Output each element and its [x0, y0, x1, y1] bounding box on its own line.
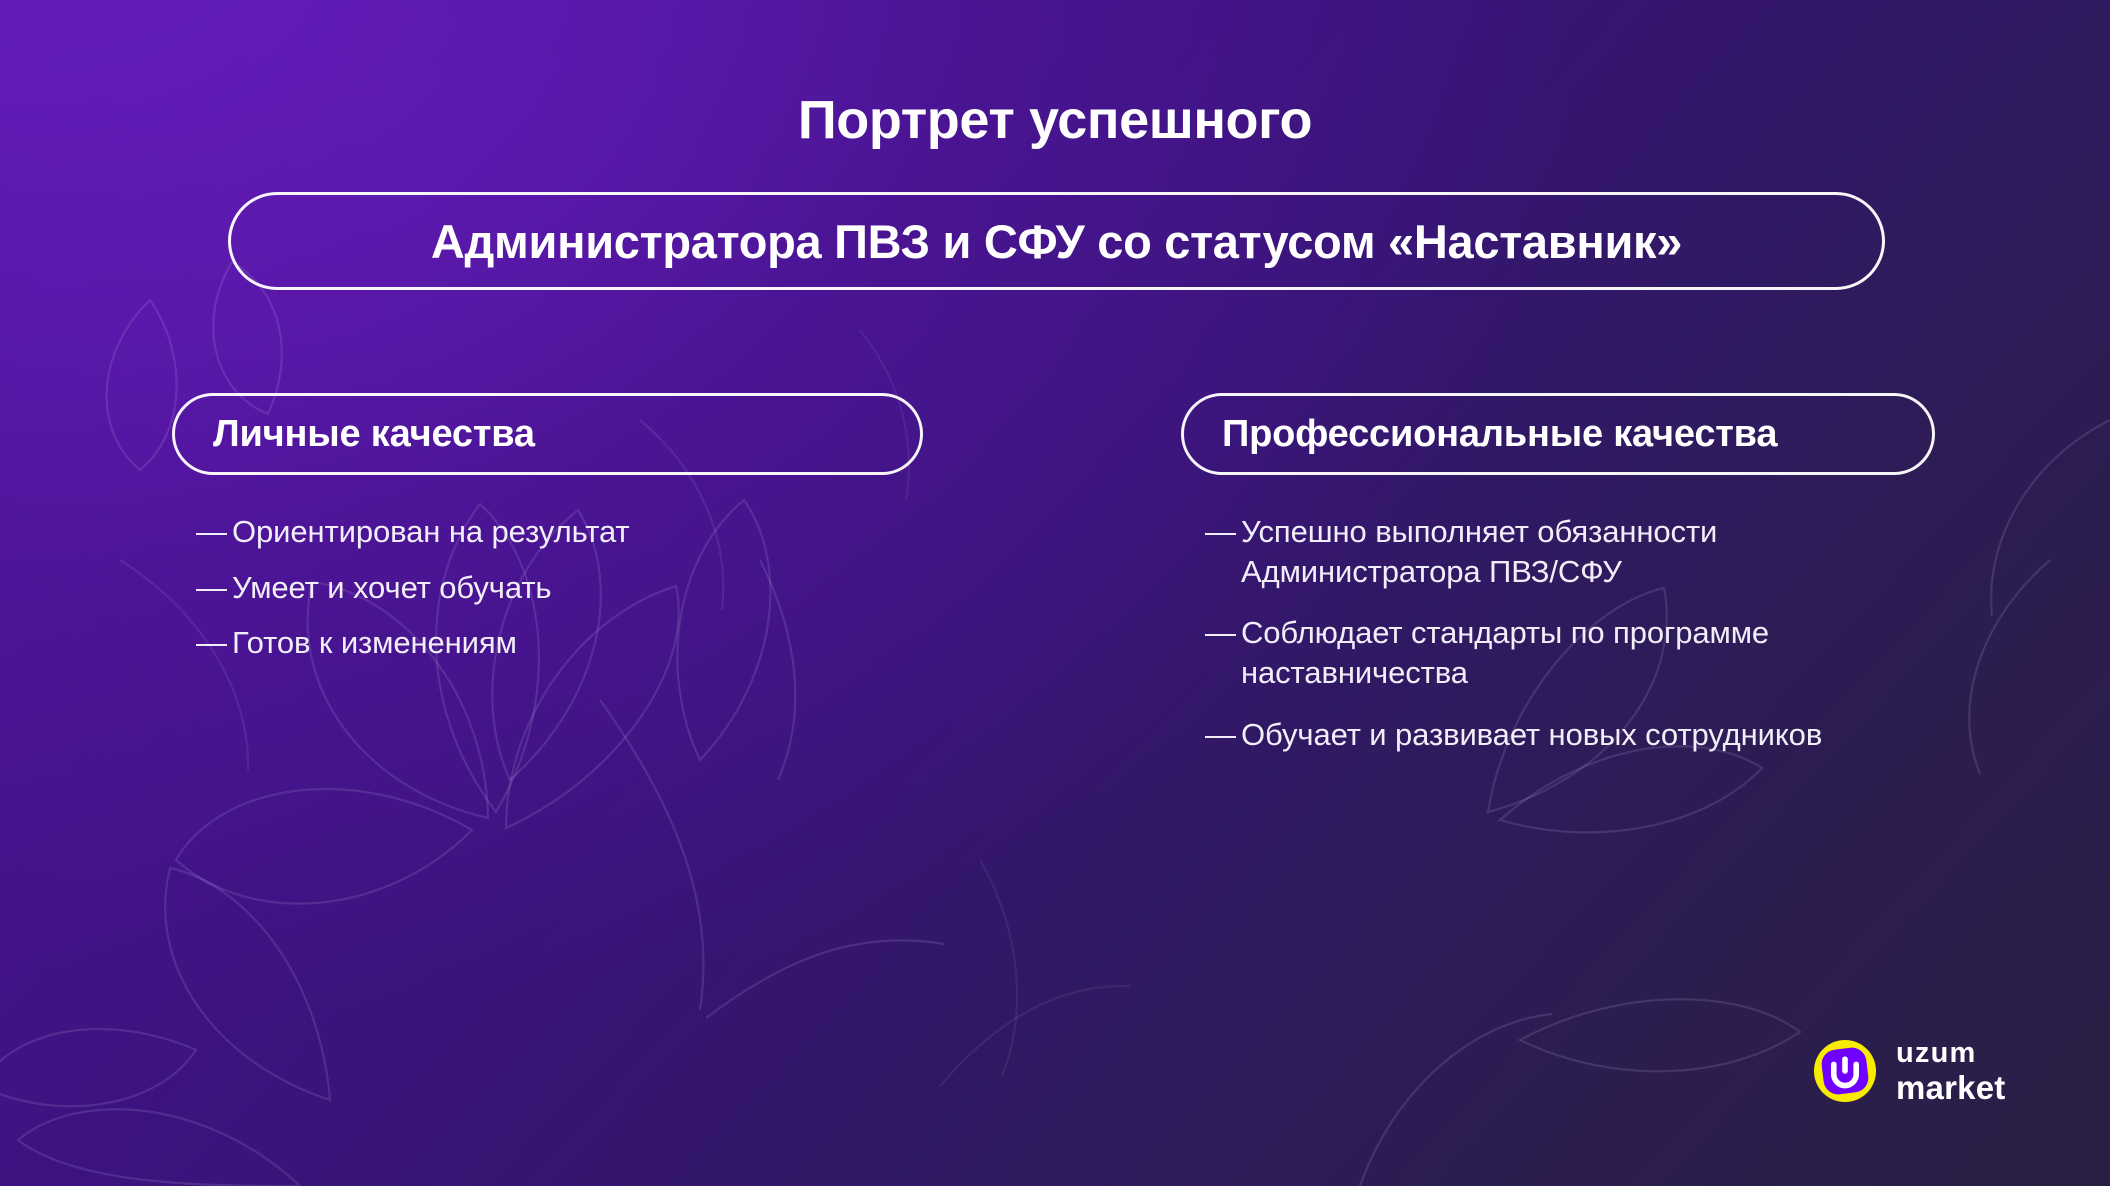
uzum-market-wordmark: uzum market [1896, 1039, 2005, 1104]
bullet-list-personal-qualities: — Ориентирован на результат — Умеет и хо… [196, 512, 896, 663]
bullet-dash-icon: — [196, 623, 232, 663]
list-item: — Соблюдает стандарты по программе наста… [1205, 613, 1945, 692]
subtitle-pill: Администратора ПВЗ и СФУ со статусом «На… [228, 192, 1885, 290]
bullet-dash-icon: — [1205, 715, 1241, 755]
uzum-market-logo: uzum market [1812, 1038, 2005, 1104]
list-item-text: Соблюдает стандарты по программе наставн… [1241, 613, 1945, 692]
column-heading-professional-qualities: Профессиональные качества [1181, 393, 1935, 475]
slide-root: Портрет успешного Администратора ПВЗ и С… [0, 0, 2110, 1186]
column-heading-personal-qualities: Личные качества [172, 393, 923, 475]
list-item-text: Готов к изменениям [232, 623, 896, 663]
bullet-dash-icon: — [196, 512, 232, 552]
bullet-dash-icon: — [1205, 613, 1241, 653]
list-item: — Готов к изменениям [196, 623, 896, 663]
list-item: — Умеет и хочет обучать [196, 568, 896, 608]
uzum-power-u-icon [1812, 1038, 1878, 1104]
subtitle-text: Администратора ПВЗ и СФУ со статусом «На… [431, 214, 1682, 269]
list-item-text: Умеет и хочет обучать [232, 568, 896, 608]
bullet-dash-icon: — [196, 568, 232, 608]
list-item-text: Ориентирован на результат [232, 512, 896, 552]
logo-word-market: market [1896, 1071, 2005, 1104]
list-item-text: Обучает и развивает новых сотрудников [1241, 715, 1945, 755]
list-item: — Успешно выполняет обязанности Админист… [1205, 512, 1945, 591]
slide-title: Портрет успешного [0, 92, 2110, 149]
logo-word-uzum: uzum [1896, 1039, 2005, 1068]
list-item: — Ориентирован на результат [196, 512, 896, 552]
bullet-dash-icon: — [1205, 512, 1241, 552]
list-item-text: Успешно выполняет обязанности Администра… [1241, 512, 1945, 591]
list-item: — Обучает и развивает новых сотрудников [1205, 715, 1945, 755]
column-heading-label: Профессиональные качества [1222, 413, 1777, 456]
bullet-list-professional-qualities: — Успешно выполняет обязанности Админист… [1205, 512, 1945, 754]
column-heading-label: Личные качества [213, 413, 535, 456]
